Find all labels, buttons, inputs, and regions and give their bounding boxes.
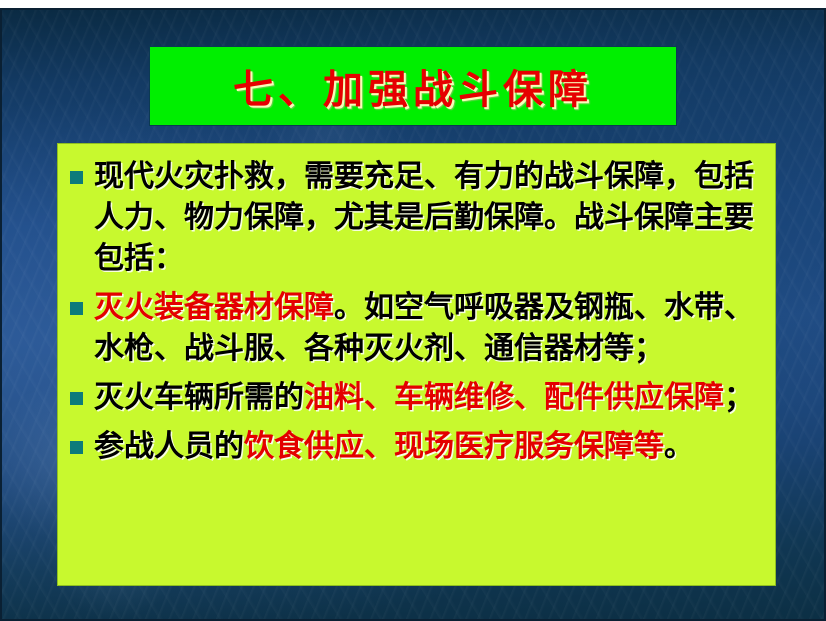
content-box: 现代火灾扑救，需要充足、有力的战斗保障，包括人力、物力保障，尤其是后勤保障。战斗…: [57, 143, 776, 586]
presentation-slide: 七、加强战斗保障 现代火灾扑救，需要充足、有力的战斗保障，包括人力、物力保障，尤…: [0, 0, 826, 621]
bullet-text: 灭火车辆所需的油料、车辆维修、配件供应保障；: [94, 377, 765, 418]
text-segment-black: 灭火车辆所需的: [94, 380, 304, 415]
square-bullet-icon: [70, 171, 83, 184]
bullet-text: 灭火装备器材保障。如空气呼吸器及钢瓶、水带、水枪、战斗服、各种灭火剂、通信器材等…: [94, 287, 765, 369]
bullet-list: 现代火灾扑救，需要充足、有力的战斗保障，包括人力、物力保障，尤其是后勤保障。战斗…: [70, 156, 765, 467]
text-segment-black: 。: [664, 429, 694, 464]
page-title: 七、加强战斗保障: [233, 57, 593, 115]
text-segment-black: 参战人员的: [94, 429, 244, 464]
text-segment-black: 现代火灾扑救，需要充足、有力的战斗保障，包括人力、物力保障，尤其是后勤保障。战斗…: [94, 159, 754, 276]
text-segment-red: 饮食供应、现场医疗服务保障等: [244, 429, 664, 464]
text-segment-red: 油料、车辆维修、配件供应保障: [304, 380, 724, 415]
bullet-item: 灭火车辆所需的油料、车辆维修、配件供应保障；: [70, 377, 765, 418]
bullet-text: 参战人员的饮食供应、现场医疗服务保障等。: [94, 426, 765, 467]
bullet-text: 现代火灾扑救，需要充足、有力的战斗保障，包括人力、物力保障，尤其是后勤保障。战斗…: [94, 156, 765, 279]
text-segment-black: ；: [724, 380, 754, 415]
bullet-item: 参战人员的饮食供应、现场医疗服务保障等。: [70, 426, 765, 467]
bullet-item: 现代火灾扑救，需要充足、有力的战斗保障，包括人力、物力保障，尤其是后勤保障。战斗…: [70, 156, 765, 279]
title-banner: 七、加强战斗保障: [149, 46, 677, 126]
bullet-item: 灭火装备器材保障。如空气呼吸器及钢瓶、水带、水枪、战斗服、各种灭火剂、通信器材等…: [70, 287, 765, 369]
top-white-strip: [0, 0, 826, 8]
text-segment-red: 灭火装备器材保障: [94, 290, 334, 325]
square-bullet-icon: [70, 302, 83, 315]
square-bullet-icon: [70, 392, 83, 405]
square-bullet-icon: [70, 441, 83, 454]
